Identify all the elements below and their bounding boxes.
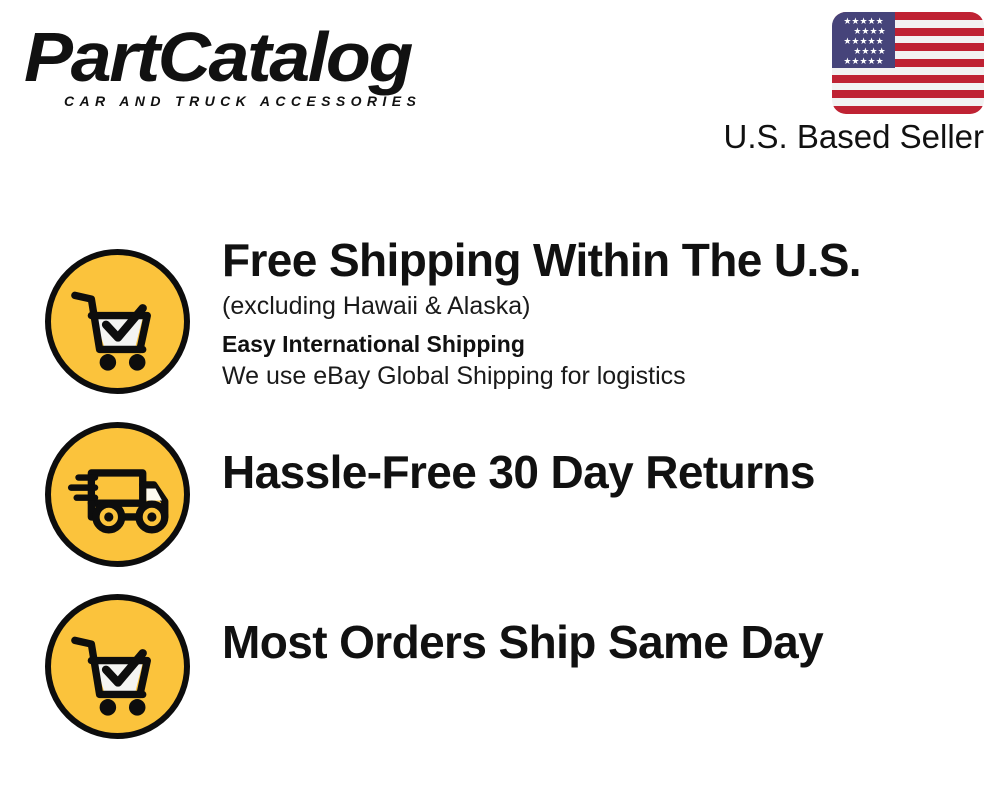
feature-headline: Most Orders Ship Same Day [222,616,980,668]
feature-text: Most Orders Ship Same Day [222,616,980,668]
feature-headline: Hassle-Free 30 Day Returns [222,446,980,498]
flag-star-row: ★★★★★ [832,17,895,26]
feature-list: Free Shipping Within The U.S. (excluding… [0,230,1000,749]
feature-row: Hassle-Free 30 Day Returns [0,403,1000,576]
logo-tagline: CAR AND TRUCK ACCESSORIES [64,94,421,108]
flag-canton: ★★★★★ ★★★★ ★★★★★ ★★★★ ★★★★★ [832,12,895,68]
flag-star-row: ★★★★★ [832,37,895,46]
shopping-cart-check-icon [45,594,190,739]
partcatalog-logo: PartCatalog CAR AND TRUCK ACCESSORIES [24,22,494,117]
us-flag-icon: ★★★★★ ★★★★ ★★★★★ ★★★★ ★★★★★ [832,12,984,114]
feature-row: Free Shipping Within The U.S. (excluding… [0,230,1000,403]
feature-text: Free Shipping Within The U.S. (excluding… [222,234,980,395]
shipping-info-banner: PartCatalog CAR AND TRUCK ACCESSORIES [0,0,1000,800]
feature-subline-secondary: We use eBay Global Shipping for logistic… [222,360,980,392]
banner-header: PartCatalog CAR AND TRUCK ACCESSORIES [0,0,1000,175]
feature-text: Hassle-Free 30 Day Returns [222,446,980,498]
shopping-cart-check-icon [45,249,190,394]
feature-row: Most Orders Ship Same Day [0,576,1000,749]
feature-subline: (excluding Hawaii & Alaska) [222,290,980,322]
flag-star-row: ★★★★ [838,27,901,36]
delivery-truck-icon [45,422,190,567]
feature-subhead: Easy International Shipping [222,328,980,360]
flag-star-row: ★★★★★ [832,57,895,66]
flag-star-row: ★★★★ [838,47,901,56]
feature-headline: Free Shipping Within The U.S. [222,234,980,286]
us-based-seller-label: U.S. Based Seller [724,118,984,156]
us-based-seller-block: ★★★★★ ★★★★ ★★★★★ ★★★★ ★★★★★ U.S. Based S… [702,8,992,158]
logo-wordmark: PartCatalog [24,22,518,92]
